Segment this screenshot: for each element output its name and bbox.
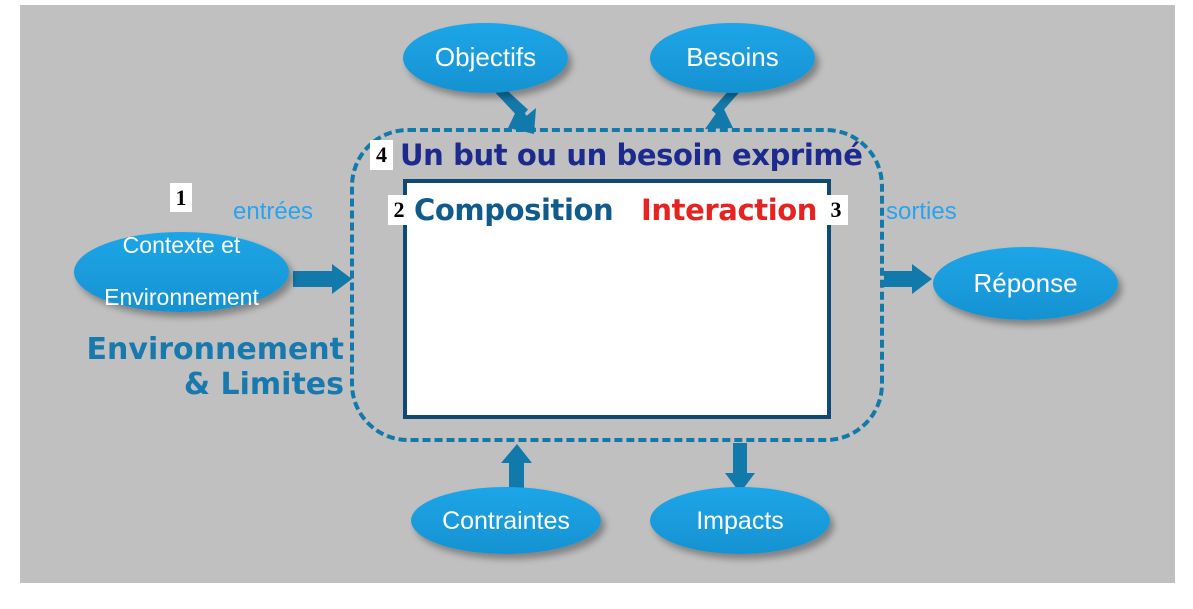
- interaction-label: Interaction: [641, 193, 817, 227]
- ellipse-contraintes[interactable]: Contraintes: [411, 487, 601, 554]
- ellipse-contexte-line-1: Contexte et: [74, 233, 289, 259]
- ellipse-impacts[interactable]: Impacts: [650, 487, 830, 554]
- ellipse-besoins-label: Besoins: [650, 43, 815, 72]
- composition-label: Composition: [414, 193, 613, 227]
- ellipse-contexte-line-2: Environnement: [74, 285, 289, 311]
- output-label: sorties: [886, 198, 957, 226]
- ellipse-objectifs-label: Objectifs: [403, 43, 568, 72]
- badge-4: 4: [370, 140, 393, 170]
- diagram-canvas: Un but ou un besoin exprimé Composition …: [0, 0, 1193, 609]
- badge-1: 1: [170, 183, 192, 212]
- input-label: entrées: [233, 198, 313, 226]
- badge-2: 2: [388, 195, 410, 225]
- environment-limits-line-2: & Limites: [86, 367, 344, 402]
- environment-limits-line-1: Environnement: [86, 332, 344, 367]
- page-title: Un but ou un besoin exprimé: [400, 138, 862, 172]
- ellipse-contexte-text: Contexte et Environnement: [74, 233, 289, 310]
- ellipse-objectifs[interactable]: Objectifs: [403, 23, 568, 93]
- ellipse-reponse-label: Réponse: [933, 269, 1118, 298]
- ellipse-contraintes-label: Contraintes: [411, 507, 601, 535]
- ellipse-reponse[interactable]: Réponse: [933, 247, 1118, 320]
- environment-limits-caption: Environnement & Limites: [86, 332, 344, 402]
- ellipse-besoins[interactable]: Besoins: [650, 23, 815, 93]
- ellipse-contexte-environnement[interactable]: Contexte et Environnement: [74, 232, 289, 312]
- badge-3: 3: [824, 195, 848, 225]
- ellipse-impacts-label: Impacts: [650, 507, 830, 535]
